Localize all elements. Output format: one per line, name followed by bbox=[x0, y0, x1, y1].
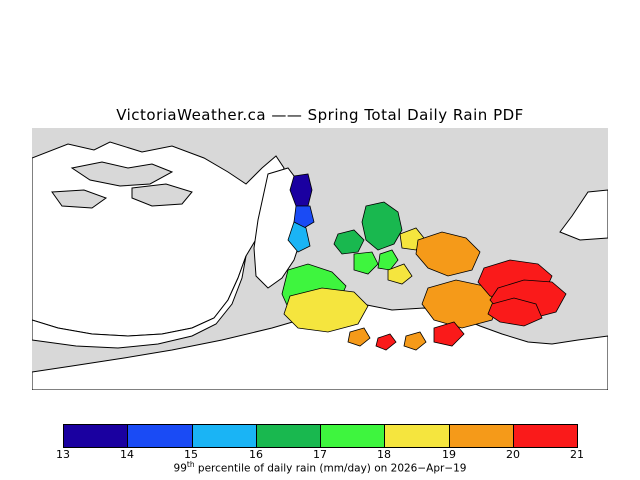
colorbar-swatch-20-21 bbox=[514, 425, 577, 447]
caption-prefix: 99 bbox=[174, 463, 187, 475]
colorbar-caption: 99th percentile of daily rain (mm/day) o… bbox=[0, 460, 640, 475]
colorbar-swatch-15-16 bbox=[193, 425, 257, 447]
colorbar-swatch-13-14 bbox=[64, 425, 128, 447]
caption-suffix: percentile of daily rain (mm/day) on 202… bbox=[195, 463, 467, 475]
colorbar-swatch-14-15 bbox=[128, 425, 192, 447]
colorbar-swatch-19-20 bbox=[450, 425, 514, 447]
caption-superscript: th bbox=[187, 460, 195, 469]
colorbar-swatch-17-18 bbox=[321, 425, 385, 447]
map-figure: VictoriaWeather.ca —— Spring Total Daily… bbox=[0, 0, 640, 480]
map-canvas[interactable] bbox=[32, 128, 608, 390]
colorbar-swatch-18-19 bbox=[385, 425, 449, 447]
colorbar-swatch-16-17 bbox=[257, 425, 321, 447]
colorbar[interactable] bbox=[63, 424, 578, 448]
page-title: VictoriaWeather.ca —— Spring Total Daily… bbox=[0, 106, 640, 124]
